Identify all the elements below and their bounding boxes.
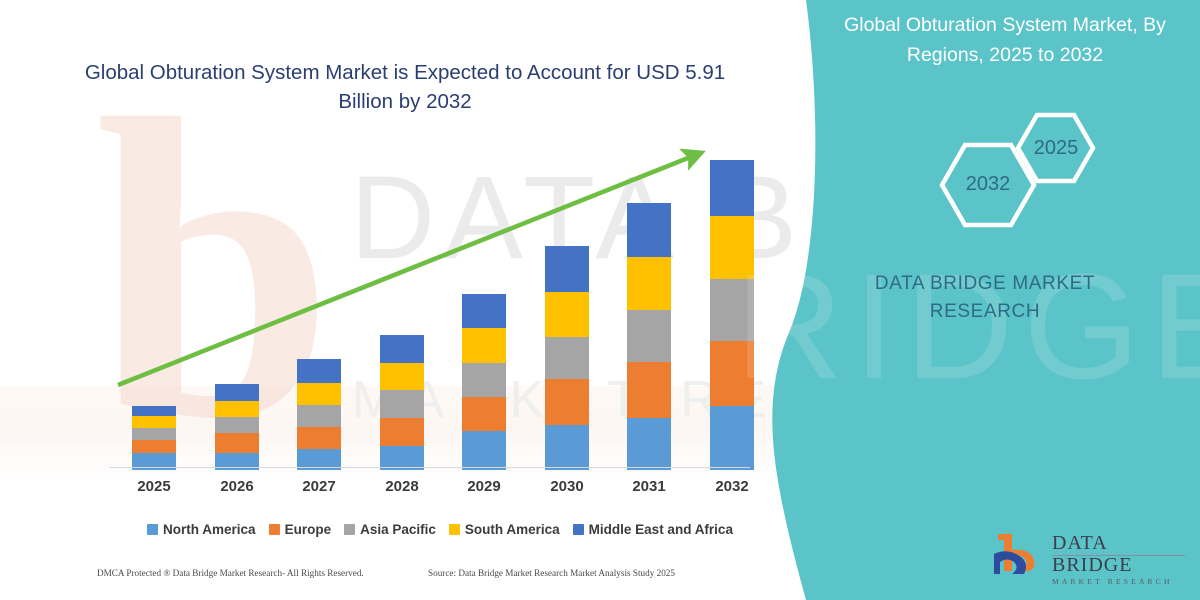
bar-segment (380, 418, 424, 446)
bar-segment (627, 362, 671, 418)
legend-label: North America (163, 522, 256, 537)
bar-segment (710, 406, 754, 470)
legend-item-asia-pacific[interactable]: Asia Pacific (344, 522, 436, 537)
databridge-logo: DATA BRIDGE MARKET RESEARCH (990, 530, 1190, 586)
x-axis-line (110, 467, 750, 468)
bar-2027 (297, 359, 341, 470)
bar-2030 (545, 246, 589, 470)
page-title: Global Obturation System Market is Expec… (60, 58, 750, 116)
bar-2029 (462, 294, 506, 470)
growth-arrow (110, 140, 770, 470)
bar-segment (627, 310, 671, 362)
bar-segment (132, 440, 176, 453)
bar-segment (462, 363, 506, 397)
hexagon-2032-label: 2032 (953, 173, 1023, 196)
bar-segment (380, 363, 424, 390)
bar-segment (132, 406, 176, 416)
bar-2026 (215, 384, 259, 470)
bar-segment (462, 397, 506, 431)
legend-swatch-icon (147, 524, 158, 535)
bar-segment (545, 292, 589, 337)
bar-segment (215, 401, 259, 417)
bar-segment (627, 418, 671, 470)
footer-source: Source: Data Bridge Market Research Mark… (428, 568, 675, 578)
bar-segment (215, 417, 259, 433)
right-panel-title: Global Obturation System Market, By Regi… (820, 10, 1190, 70)
logo-text: DATA BRIDGE MARKET RESEARCH (1052, 532, 1192, 588)
right-brand-line1: DATA BRIDGE MARKET (840, 270, 1130, 298)
x-label-2028: 2028 (362, 478, 442, 495)
bar-segment (545, 425, 589, 470)
bar-segment (297, 383, 341, 405)
footer-copyright: DMCA Protected ® Data Bridge Market Rese… (97, 568, 364, 578)
legend-label: Europe (285, 522, 332, 537)
x-label-2029: 2029 (444, 478, 524, 495)
logo-name: DATA BRIDGE (1052, 532, 1192, 576)
x-axis-labels: 20252026202720282029203020312032 (110, 478, 770, 502)
bar-segment (215, 433, 259, 453)
bar-segment (297, 405, 341, 427)
legend-item-north-america[interactable]: North America (147, 522, 256, 537)
x-label-2026: 2026 (197, 478, 277, 495)
logo-divider (1053, 555, 1185, 556)
bar-segment (545, 379, 589, 425)
hexagon-2025-label: 2025 (1021, 137, 1091, 160)
legend-swatch-icon (269, 524, 280, 535)
bar-segment (545, 337, 589, 379)
x-label-2027: 2027 (279, 478, 359, 495)
logo-tagline: MARKET RESEARCH (1052, 576, 1192, 588)
bar-segment (215, 384, 259, 401)
bar-segment (297, 427, 341, 449)
bar-segment (380, 390, 424, 418)
right-brand-line2: RESEARCH (840, 298, 1130, 326)
bar-segment (545, 246, 589, 292)
infographic-root: b DATA BRIDGE MARKET RESEARCH Global Obt… (0, 0, 1200, 600)
bar-2031 (627, 203, 671, 470)
plot-area (110, 140, 770, 470)
footer: DMCA Protected ® Data Bridge Market Rese… (0, 568, 800, 590)
bar-segment (132, 428, 176, 440)
hexagon-group: 2025 2032 (915, 110, 1115, 240)
legend-label: Middle East and Africa (589, 522, 733, 537)
right-watermark: RIDGE (735, 240, 1200, 413)
legend-item-middle-east-and-africa[interactable]: Middle East and Africa (573, 522, 733, 537)
legend-item-south-america[interactable]: South America (449, 522, 560, 537)
legend-label: Asia Pacific (360, 522, 436, 537)
bar-segment (710, 160, 754, 216)
bar-2028 (380, 335, 424, 470)
bar-segment (462, 328, 506, 363)
right-panel: RIDGE Global Obturation System Market, B… (760, 0, 1200, 600)
bar-segment (297, 359, 341, 383)
bar-segment (462, 431, 506, 470)
bar-2025 (132, 406, 176, 470)
legend-swatch-icon (344, 524, 355, 535)
logo-mark-icon (990, 530, 1048, 580)
right-brand-name: DATA BRIDGE MARKET RESEARCH (840, 270, 1130, 326)
chart-pane: b DATA BRIDGE MARKET RESEARCH Global Obt… (0, 0, 800, 600)
chart-legend: North AmericaEuropeAsia PacificSouth Ame… (110, 518, 770, 540)
legend-item-europe[interactable]: Europe (269, 522, 332, 537)
x-label-2025: 2025 (114, 478, 194, 495)
bar-segment (627, 257, 671, 310)
bar-segment (132, 416, 176, 428)
bar-segment (380, 335, 424, 363)
x-label-2031: 2031 (609, 478, 689, 495)
legend-swatch-icon (573, 524, 584, 535)
bar-segment (627, 203, 671, 257)
legend-swatch-icon (449, 524, 460, 535)
x-label-2030: 2030 (527, 478, 607, 495)
legend-label: South America (465, 522, 560, 537)
bar-segment (462, 294, 506, 328)
